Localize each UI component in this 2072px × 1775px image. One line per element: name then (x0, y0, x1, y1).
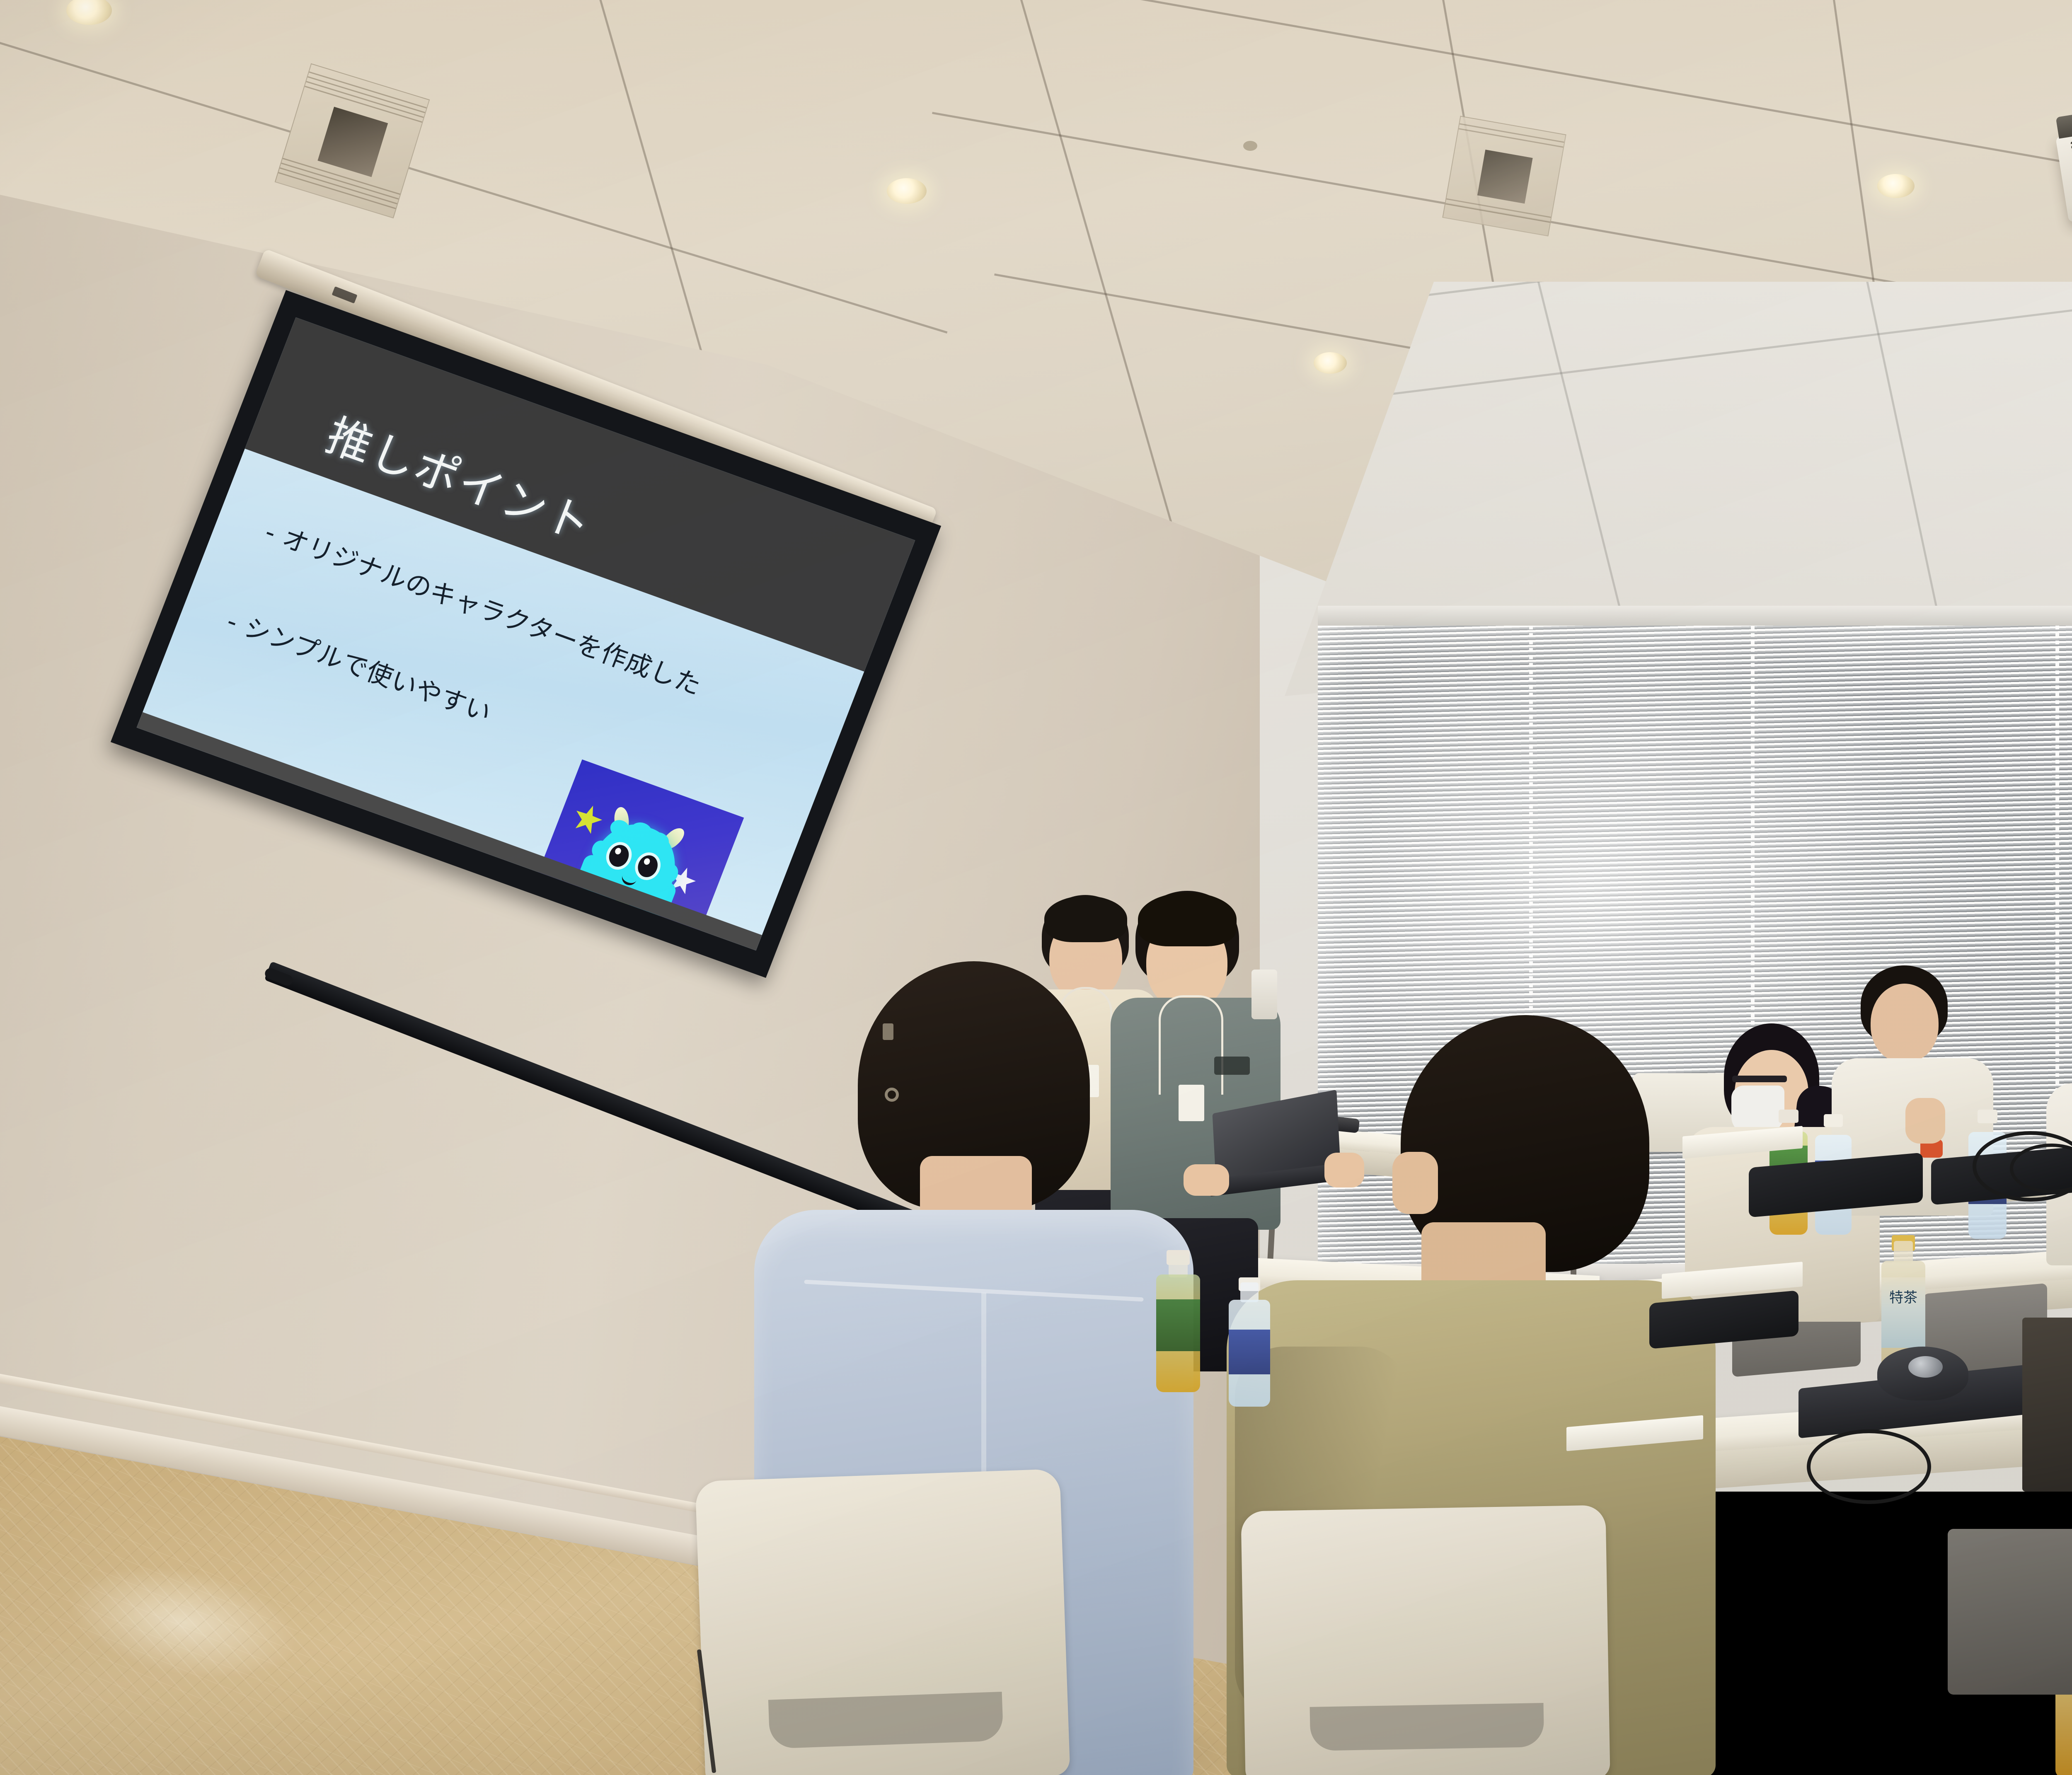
glasses-icon (1732, 1076, 1787, 1082)
conference-room-photo: 推しポイント - オリジナルのキャラクターを作成した - シンプルで使いやすい (0, 0, 2072, 1775)
head (1871, 984, 1939, 1062)
wall-hook-icon (885, 1088, 899, 1102)
wall-speaker-icon (1251, 970, 1277, 1019)
bottle-neck (1240, 1282, 1259, 1302)
bottle-water[interactable] (1229, 1282, 1270, 1407)
screen-brand-badge (332, 286, 358, 303)
chair-foreground-left[interactable] (695, 1469, 1070, 1775)
chair-foreground-right[interactable] (1241, 1505, 1610, 1775)
bottle-cap-icon (1978, 1110, 1997, 1123)
ear (1392, 1152, 1438, 1214)
pedestal-cabinet (2022, 1318, 2072, 1492)
bottle-label (1156, 1299, 1200, 1351)
bottle-cap-icon (1824, 1114, 1843, 1127)
ceiling-downlight-icon (1877, 174, 1915, 198)
bottle-green-tea[interactable] (1156, 1255, 1200, 1392)
bottle-neck (1169, 1255, 1188, 1277)
ceiling-downlight-icon (1314, 352, 1347, 374)
hand (1905, 1098, 1945, 1144)
hair-fringe (1138, 892, 1237, 946)
smoke-detector-icon (1243, 141, 1257, 151)
chair-dark-foreground[interactable] (1948, 1529, 2072, 1695)
trackball-mouse[interactable] (1877, 1347, 1968, 1400)
hvac-diffuser-icon-2 (1442, 116, 1566, 236)
ceiling-downlight-icon (66, 0, 112, 25)
slide-bullet-2: - シンプルで使いやすい (222, 600, 498, 730)
bottle-neck (1894, 1241, 1913, 1263)
hvac-diffuser-icon (275, 63, 430, 219)
wall-outlet-icon (883, 1023, 893, 1040)
desk-cable-coil-3 (1807, 1429, 1931, 1504)
chair-hand-slot (1310, 1703, 1544, 1751)
chair-hand-slot (768, 1692, 1003, 1749)
bottle-label-text: 特茶 (1881, 1286, 1925, 1311)
ceiling-downlight-icon (887, 178, 927, 204)
bottle-cap-icon (1779, 1110, 1798, 1123)
bottle-label (1229, 1330, 1270, 1374)
